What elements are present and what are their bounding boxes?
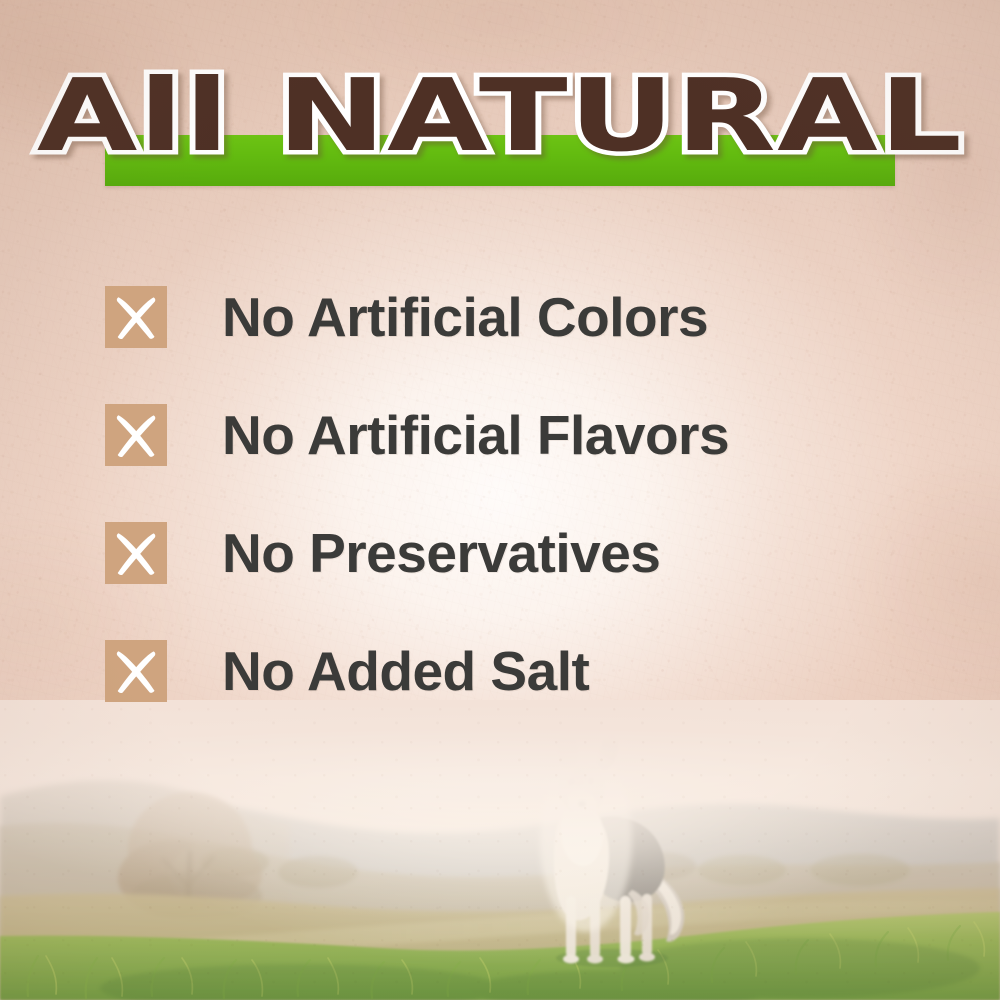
page-title: All NATURAL xyxy=(0,60,1000,172)
feature-label: No Artificial Flavors xyxy=(222,406,729,464)
x-mark-icon xyxy=(105,286,167,348)
feature-label: No Preservatives xyxy=(222,524,660,582)
x-mark-icon xyxy=(105,404,167,466)
feature-list: No Artificial Colors No Artificial Flavo… xyxy=(105,258,945,730)
list-item: No Artificial Flavors xyxy=(105,376,945,494)
dog-in-pasture-photo xyxy=(0,700,1000,1000)
x-mark-icon xyxy=(105,522,167,584)
all-natural-feature-panel: All NATURAL No Artificial Colors No Arti… xyxy=(0,0,1000,1000)
x-mark-icon xyxy=(105,640,167,702)
list-item: No Preservatives xyxy=(105,494,945,612)
list-item: No Added Salt xyxy=(105,612,945,730)
feature-label: No Added Salt xyxy=(222,642,589,700)
headline-block: All NATURAL xyxy=(0,60,1000,205)
list-item: No Artificial Colors xyxy=(105,258,945,376)
feature-label: No Artificial Colors xyxy=(222,288,708,346)
